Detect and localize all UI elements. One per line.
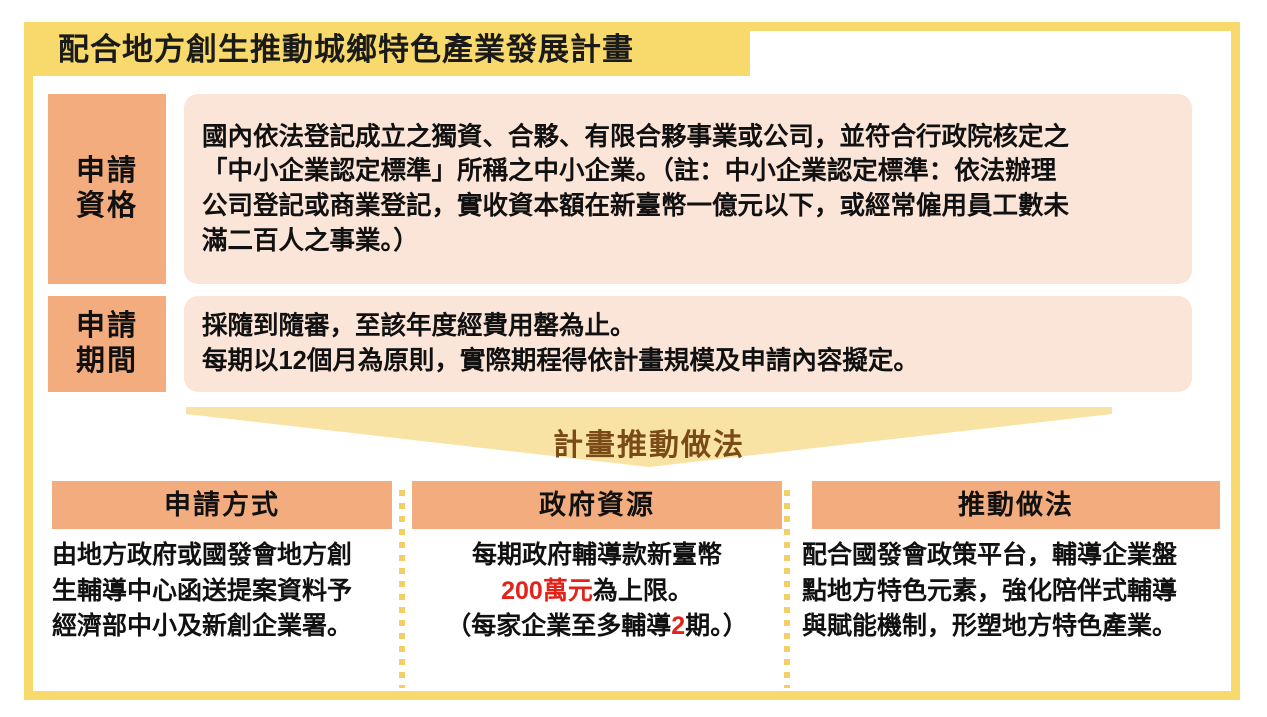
column-body: 由地方政府或國發會地方創 生輔導中心函送提案資料予 經濟部中小及新創企業署。 [52, 529, 392, 645]
info-label-period: 申請 期間 [48, 296, 166, 392]
line-prefix: （每家企業至多輔導 [446, 612, 671, 640]
column-body: 每期政府輔導款新臺幣 200萬元為上限。 （每家企業至多輔導2期。） [412, 529, 782, 645]
info-label-eligibility: 申請 資格 [48, 94, 166, 284]
column-heading: 政府資源 [539, 492, 655, 519]
page-title: 配合地方創生推動城鄉特色產業發展計畫 [58, 34, 634, 65]
infographic-page: 配合地方創生推動城鄉特色產業發展計畫 申請 資格 國內依法登記成立之獨資、合夥、… [0, 0, 1267, 717]
column-line: 與賦能機制，形塑地方特色產業。 [802, 609, 1220, 645]
period-count-highlight: 2 [671, 612, 685, 640]
section-banner-label: 計畫推動做法 [186, 407, 1112, 467]
info-body-line: 採隨到隨審，至該年度經費用罄為止。 [202, 309, 1176, 344]
info-label-line: 申請 [76, 309, 138, 344]
column-header: 申請方式 [52, 481, 392, 529]
info-body-line: 公司登記或商業登記，實收資本額在新臺幣一億元以下，或經常僱用員工數未 [202, 189, 1176, 224]
column-application-method: 申請方式 由地方政府或國發會地方創 生輔導中心函送提案資料予 經濟部中小及新創企… [52, 481, 392, 645]
info-body-line: 滿二百人之事業。） [202, 224, 1176, 259]
amount-highlight: 200萬元 [501, 577, 593, 605]
line-suffix: 為上限。 [593, 577, 693, 605]
info-row-eligibility: 申請 資格 國內依法登記成立之獨資、合夥、有限合夥事業或公司，並符合行政院核定之… [48, 94, 1192, 284]
column-line: 由地方政府或國發會地方創 [52, 538, 392, 574]
info-label-line: 申請 [76, 154, 138, 189]
column-government-resources: 政府資源 每期政府輔導款新臺幣 200萬元為上限。 （每家企業至多輔導2期。） [412, 481, 782, 645]
column-line: 每期政府輔導款新臺幣 [412, 538, 782, 574]
columns-container: 申請方式 由地方政府或國發會地方創 生輔導中心函送提案資料予 經濟部中小及新創企… [40, 481, 1220, 681]
info-body-period: 採隨到隨審，至該年度經費用罄為止。 每期以12個月為原則，實際期程得依計畫規模及… [184, 296, 1192, 392]
column-line-amount: 200萬元為上限。 [412, 574, 782, 610]
info-label-line: 期間 [76, 344, 138, 379]
column-line: 配合國發會政策平台，輔導企業盤 [802, 538, 1220, 574]
info-row-period: 申請 期間 採隨到隨審，至該年度經費用罄為止。 每期以12個月為原則，實際期程得… [48, 296, 1192, 392]
column-heading: 推動做法 [958, 492, 1074, 519]
column-header: 推動做法 [812, 481, 1220, 529]
column-body: 配合國發會政策平台，輔導企業盤 點地方特色元素，強化陪伴式輔導 與賦能機制，形塑… [802, 529, 1220, 645]
info-label-line: 資格 [76, 189, 138, 224]
page-title-band: 配合地方創生推動城鄉特色產業發展計畫 [32, 22, 750, 76]
info-body-line: 每期以12個月為原則，實際期程得依計畫規模及申請內容擬定。 [202, 344, 1176, 379]
column-line: 經濟部中小及新創企業署。 [52, 609, 392, 645]
section-banner: 計畫推動做法 [186, 407, 1112, 467]
column-header: 政府資源 [412, 481, 782, 529]
column-heading: 申請方式 [164, 492, 280, 519]
column-line: 生輔導中心函送提案資料予 [52, 574, 392, 610]
info-body-eligibility: 國內依法登記成立之獨資、合夥、有限合夥事業或公司，並符合行政院核定之 「中小企業… [184, 94, 1192, 284]
info-body-line: 「中小企業認定標準」所稱之中小企業。（註：中小企業認定標準：依法辦理 [202, 154, 1176, 189]
info-body-line: 國內依法登記成立之獨資、合夥、有限合夥事業或公司，並符合行政院核定之 [202, 120, 1176, 155]
column-line: 點地方特色元素，強化陪伴式輔導 [802, 574, 1220, 610]
column-line-periods: （每家企業至多輔導2期。） [412, 609, 782, 645]
line-suffix: 期。） [685, 612, 748, 640]
column-implementation-approach: 推動做法 配合國發會政策平台，輔導企業盤 點地方特色元素，強化陪伴式輔導 與賦能… [802, 481, 1220, 645]
